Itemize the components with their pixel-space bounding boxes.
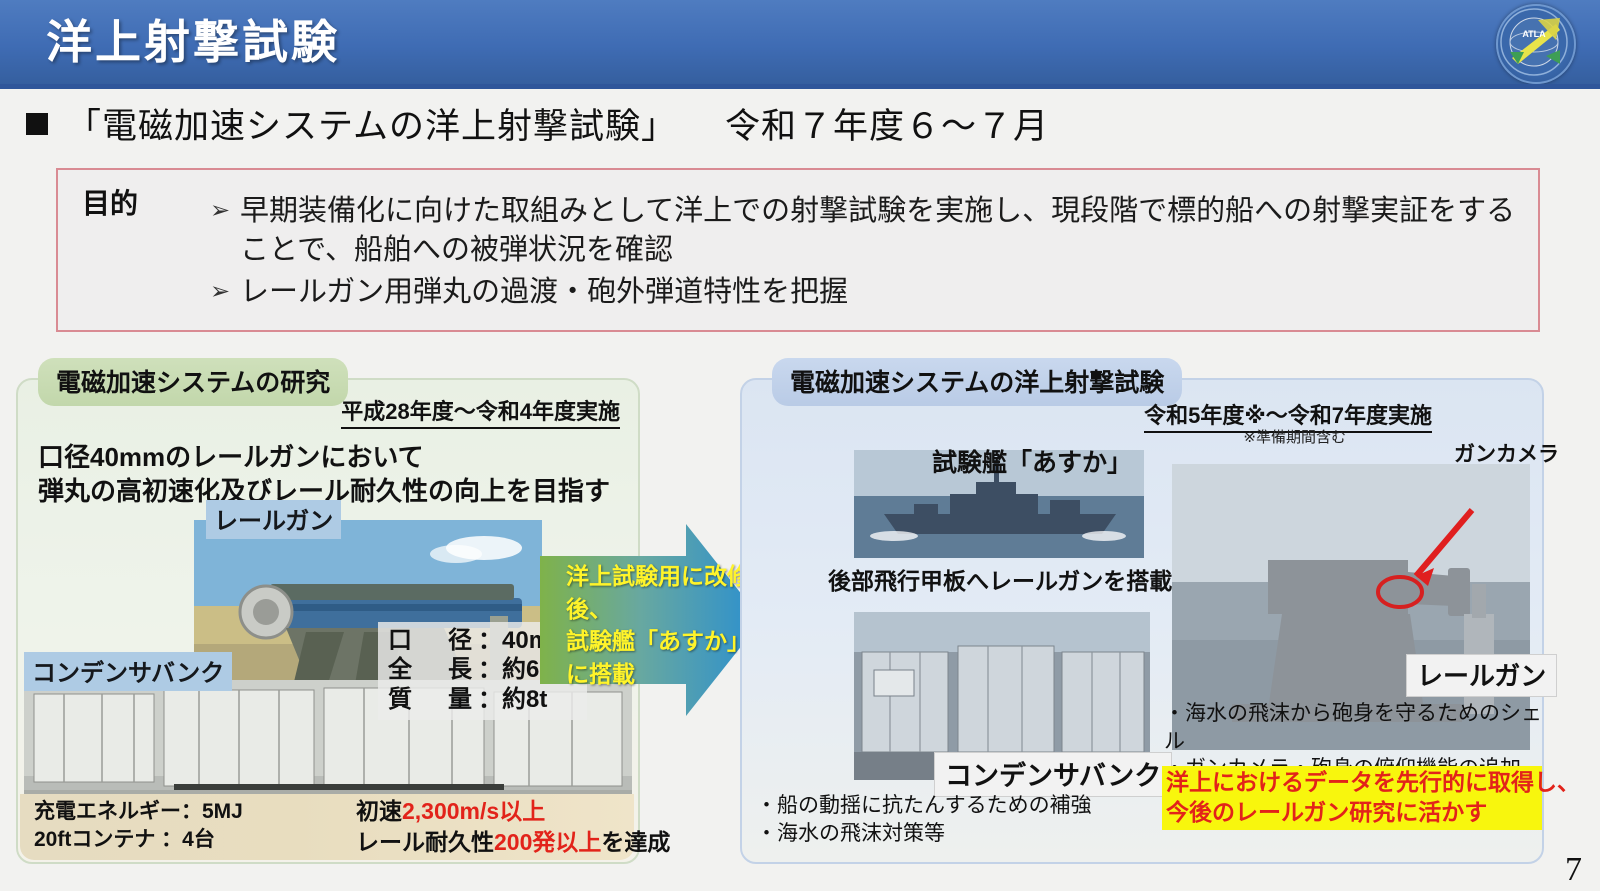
arrow-line-2: 試験艦「あすか」	[566, 625, 756, 658]
test-ship-label: 試験艦「あすか」	[922, 442, 1142, 482]
result-velocity-prefix: 初速	[356, 798, 402, 824]
left-panel-lead: 口径40mmのレールガンにおいて 弾丸の高初速化及びレール耐久性の向上を目指す	[38, 440, 610, 509]
purpose-box: 目的 ➢ 早期装備化に向けた取組みとして洋上での射撃試験を実施し、現段階で標的船…	[56, 168, 1540, 332]
list-item: ➢ レールガン用弾丸の過渡・砲外弾道特性を把握	[210, 273, 1522, 312]
square-bullet-icon	[26, 113, 48, 135]
left-panel-period: 平成28年度〜令和4年度実施	[341, 394, 620, 429]
subtitle-text: 「電磁加速システムの洋上射撃試験」	[66, 98, 677, 149]
atla-emblem-icon: ATLA	[1496, 4, 1576, 84]
container-count-text: 20ftコンテナ ：4台	[34, 826, 243, 854]
subtitle-date: 令和７年度６〜７月	[725, 98, 1049, 149]
right-panel-period-note: ※準備期間含む	[1243, 426, 1346, 447]
page-title: 洋上射撃試験	[46, 6, 340, 72]
list-item: ・海水の飛沫対策等	[756, 820, 1156, 848]
result-durability-prefix: レール耐久性	[356, 829, 494, 855]
subtitle-row: 「電磁加速システムの洋上射撃試験」 令和７年度６〜７月	[16, 98, 1049, 149]
arrow-bullet-icon: ➢	[210, 192, 240, 227]
arrow-line-1: 洋上試験用に改修後、	[566, 560, 756, 625]
result-velocity-value: 2,300m/s以上	[402, 798, 545, 824]
ship-caption: 後部飛行甲板へレールガンを搭載	[828, 562, 1172, 596]
purpose-label: 目的	[82, 182, 138, 222]
spec-key: 全 長	[388, 656, 478, 683]
right-bottom-bullets: ・船の動揺に抗たんするための補強 ・海水の飛沫対策等	[756, 792, 1156, 847]
purpose-item-text: 早期装備化に向けた取組みとして洋上での射撃試験を実施し、現段階で標的船への射撃実…	[240, 192, 1522, 269]
purpose-list: ➢ 早期装備化に向けた取組みとして洋上での射撃試験を実施し、現段階で標的船への射…	[210, 192, 1522, 312]
left-lead-line1: 口径40mmのレールガンにおいて	[38, 440, 610, 474]
right-panel-title: 電磁加速システムの洋上射撃試験	[772, 358, 1182, 406]
slide-root: 洋上射撃試験 ATLA 「電磁加速システムの洋上射撃試験」 令和７年度６〜７月 …	[0, 0, 1600, 891]
result-durability: レール耐久性200発以上を達成	[356, 827, 670, 858]
left-bottom-info: 充電エネルギー：5MJ 20ftコンテナ ：4台	[34, 798, 243, 855]
capacitor-bank-label: コンデンサバンク	[24, 652, 232, 691]
left-bottom-bar: 充電エネルギー：5MJ 20ftコンテナ ：4台 初速2,300m/s以上 レー…	[20, 794, 634, 860]
spec-key: 口 径	[388, 627, 478, 654]
arrow-bullet-icon: ➢	[210, 273, 240, 308]
list-item: ・海水の飛沫から砲身を守るためのシェル	[1164, 700, 1544, 755]
result-durability-suffix: を達成	[601, 829, 670, 855]
conclusion-line-1: 洋上におけるデータを先行的に取得し、	[1166, 768, 1538, 798]
result-velocity: 初速2,300m/s以上	[356, 796, 670, 827]
gun-camera-label: ガンカメラ	[1454, 438, 1559, 468]
slide-header: 洋上射撃試験 ATLA	[0, 0, 1600, 84]
railgun-label: レールガン	[206, 500, 341, 539]
header-rule	[0, 84, 1600, 89]
left-results: 初速2,300m/s以上 レール耐久性200発以上を達成	[356, 796, 670, 858]
charge-energy-text: 充電エネルギー：5MJ	[34, 798, 243, 826]
left-panel-title: 電磁加速システムの研究	[38, 358, 348, 406]
purpose-item-text: レールガン用弾丸の過渡・砲外弾道特性を把握	[240, 273, 1522, 312]
right-capacitor-label: コンデンサバンク	[934, 752, 1172, 797]
list-item: ・船の動揺に抗たんするための補強	[756, 792, 1156, 820]
spec-key: 質 量	[388, 686, 478, 713]
onboard-railgun-label: レールガン	[1406, 654, 1557, 697]
arrow-line-3: に搭載	[566, 658, 756, 691]
list-item: ➢ 早期装備化に向けた取組みとして洋上での射撃試験を実施し、現段階で標的船への射…	[210, 192, 1522, 269]
svg-text:ATLA: ATLA	[1522, 29, 1546, 39]
right-panel-seatrial: 電磁加速システムの洋上射撃試験 令和5年度※〜令和7年度実施 ※準備期間含む	[740, 378, 1544, 864]
page-number: 7	[1565, 851, 1582, 889]
conclusion-highlight: 洋上におけるデータを先行的に取得し、 今後のレールガン研究に活かす	[1162, 766, 1542, 830]
conclusion-line-2: 今後のレールガン研究に活かす	[1166, 798, 1538, 828]
arrow-caption: 洋上試験用に改修後、 試験艦「あすか」 に搭載	[566, 560, 756, 691]
result-durability-value: 200発以上	[494, 829, 601, 855]
